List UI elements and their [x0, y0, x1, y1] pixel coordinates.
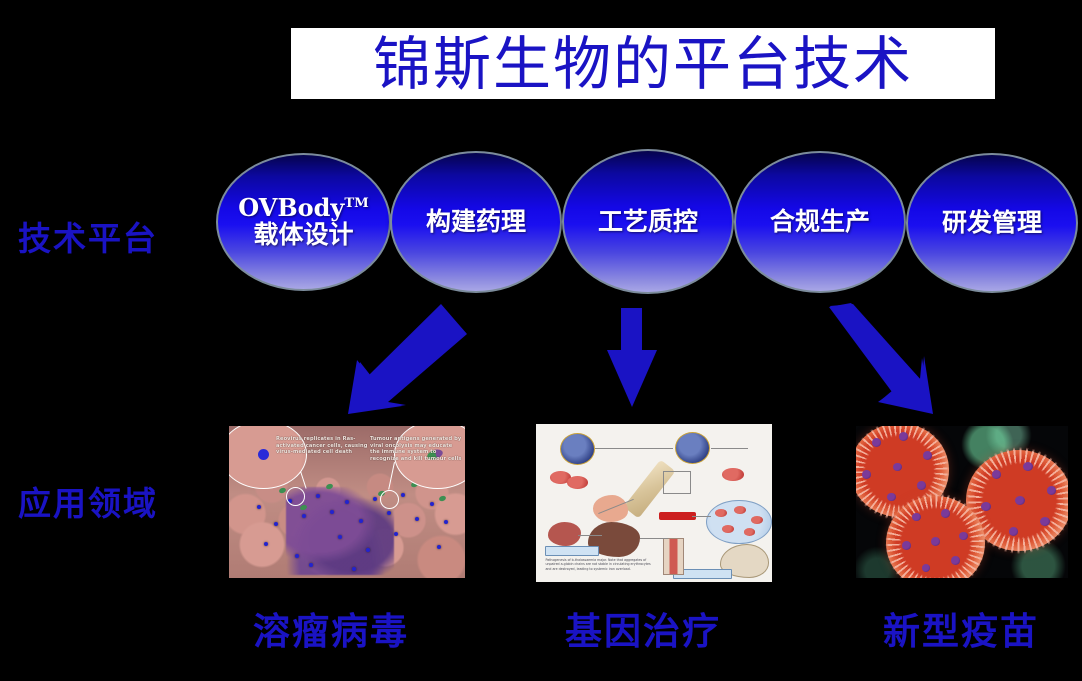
platform-label-line1: 构建药理 [426, 208, 526, 236]
callout-text-tumour-antigen: Tumour antigens generated by viral oncol… [370, 436, 462, 463]
platform-label-line1: 研发管理 [942, 209, 1042, 237]
arrow-to-gene-therapy-icon [604, 308, 660, 408]
presentation-slide: 锦斯生物的平台技术 技术平台 应用领域 OVBodyTM 载体设计 构建药理 工… [0, 0, 1082, 681]
platform-ellipse-ovbody-vector-design[interactable]: OVBodyTM 载体设计 [216, 153, 391, 291]
row-label-technology-platform: 技术平台 [18, 212, 158, 260]
platform-label-line1: 工艺质控 [598, 208, 698, 236]
callout-text-reovirus: Reovirus replicates in Ras-activated can… [276, 436, 368, 456]
application-caption-new-vaccine: 新型疫苗 [883, 601, 1039, 655]
arrow-to-oncolytic-virus-icon [338, 302, 468, 412]
application-caption-oncolytic-virus: 溶瘤病毒 [253, 601, 409, 655]
platform-ellipse-process-quality-control[interactable]: 工艺质控 [562, 149, 734, 294]
application-image-new-vaccine [856, 426, 1068, 578]
platform-ellipse-compliant-manufacturing[interactable]: 合规生产 [734, 151, 906, 293]
platform-ellipse-rnd-management[interactable]: 研发管理 [906, 153, 1078, 293]
row-label-application-area: 应用领域 [18, 477, 158, 525]
application-image-gene-therapy: Pathogenesis of b-thalassaemia major. No… [536, 424, 772, 582]
page-title: 锦斯生物的平台技术 [373, 35, 913, 93]
title-banner: 锦斯生物的平台技术 [291, 28, 995, 99]
platform-label-line1: 合规生产 [770, 208, 870, 236]
arrow-to-new-vaccine-icon [800, 302, 935, 414]
virus-particle [886, 496, 986, 578]
application-caption-gene-therapy: 基因治疗 [565, 601, 721, 655]
platform-label-line1: OVBodyTM [238, 195, 369, 222]
application-image-oncolytic-virus: Reovirus replicates in Ras-activated can… [229, 426, 465, 578]
platform-label-line2: 载体设计 [253, 221, 353, 249]
platform-ellipse-pharmacology-construction[interactable]: 构建药理 [390, 151, 562, 293]
